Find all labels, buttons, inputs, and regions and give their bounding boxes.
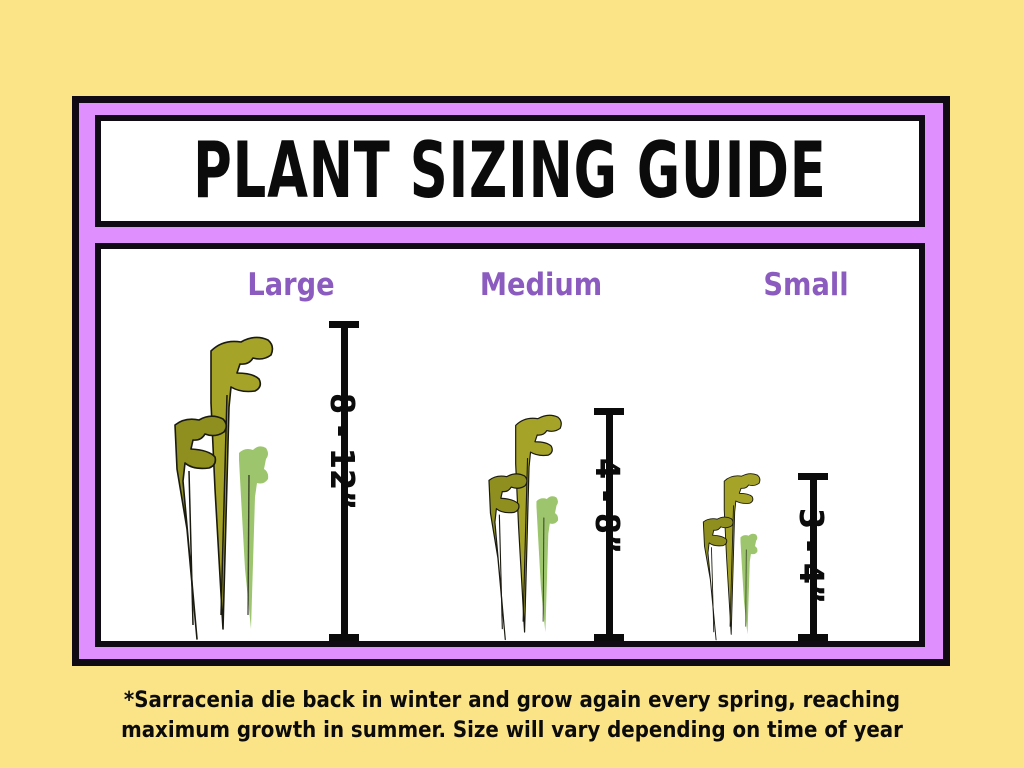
page-title: PLANT SIZING GUIDE	[193, 132, 826, 210]
size-label-small: Small	[749, 270, 863, 301]
plant-size-group-small: Small 3 - 4”	[101, 249, 921, 641]
measure-bar-cap-bottom	[798, 634, 828, 641]
title-box: PLANT SIZING GUIDE	[95, 115, 925, 227]
sizing-chart-panel: Large 8 - 12”Medium 4 - 8”Small	[95, 243, 925, 647]
pitcher-plant-illustration-small	[701, 469, 773, 641]
measure-range-label-small: 3 - 4”	[795, 508, 828, 604]
footer-line-2: maximum growth in summer. Size will vary…	[51, 716, 973, 746]
plant-sizing-poster: PLANT SIZING GUIDE Large 8 - 12”Medium	[0, 0, 1024, 768]
measure-bar-cap-top	[798, 473, 828, 480]
footer-note: *Sarracenia die back in winter and grow …	[0, 686, 1024, 746]
footer-line-1: *Sarracenia die back in winter and grow …	[51, 686, 973, 716]
